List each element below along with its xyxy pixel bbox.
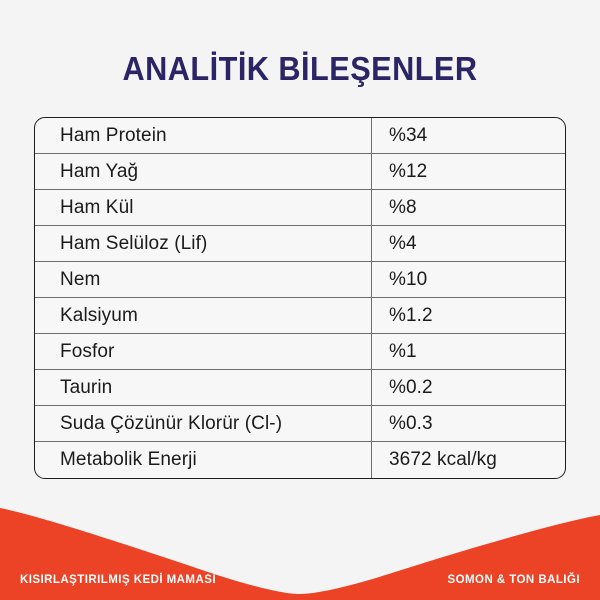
row-value: %1: [372, 334, 565, 369]
row-label: Nem: [35, 262, 372, 297]
row-value: %8: [372, 190, 565, 225]
analytical-constituents-table: Ham Protein %34 Ham Yağ %12 Ham Kül %8 H…: [34, 117, 566, 479]
row-label: Taurin: [35, 370, 372, 405]
row-value: %12: [372, 154, 565, 189]
footer-right-label: SOMON & TON BALIĞI: [448, 574, 580, 586]
table-row: Ham Yağ %12: [35, 154, 565, 190]
table-row: Ham Protein %34: [35, 118, 565, 154]
table-row: Nem %10: [35, 262, 565, 298]
row-value: %10: [372, 262, 565, 297]
row-label: Ham Selüloz (Lif): [35, 226, 372, 261]
table-row: Ham Kül %8: [35, 190, 565, 226]
row-value: 3672 kcal/kg: [372, 442, 565, 478]
row-value: %1.2: [372, 298, 565, 333]
row-value: %0.2: [372, 370, 565, 405]
row-label: Ham Protein: [35, 118, 372, 153]
row-label: Kalsiyum: [35, 298, 372, 333]
table-row: Taurin %0.2: [35, 370, 565, 406]
row-value: %0.3: [372, 406, 565, 441]
row-label: Ham Yağ: [35, 154, 372, 189]
product-label-page: ANALİTİK BİLEŞENLER Ham Protein %34 Ham …: [0, 0, 600, 600]
page-title: ANALİTİK BİLEŞENLER: [21, 50, 579, 88]
table-row: Suda Çözünür Klorür (Cl-) %0.3: [35, 406, 565, 442]
footer-left-label: KISIRLAŞTIRILMIŞ KEDİ MAMASI: [20, 574, 216, 586]
row-label: Ham Kül: [35, 190, 372, 225]
table-row: Fosfor %1: [35, 334, 565, 370]
row-value: %34: [372, 118, 565, 153]
row-label: Metabolik Enerji: [35, 442, 372, 478]
row-label: Fosfor: [35, 334, 372, 369]
footer-banner: KISIRLAŞTIRILMIŞ KEDİ MAMASI SOMON & TON…: [0, 500, 600, 600]
table-row: Metabolik Enerji 3672 kcal/kg: [35, 442, 565, 478]
table-row: Ham Selüloz (Lif) %4: [35, 226, 565, 262]
row-value: %4: [372, 226, 565, 261]
row-label: Suda Çözünür Klorür (Cl-): [35, 406, 372, 441]
table-row: Kalsiyum %1.2: [35, 298, 565, 334]
